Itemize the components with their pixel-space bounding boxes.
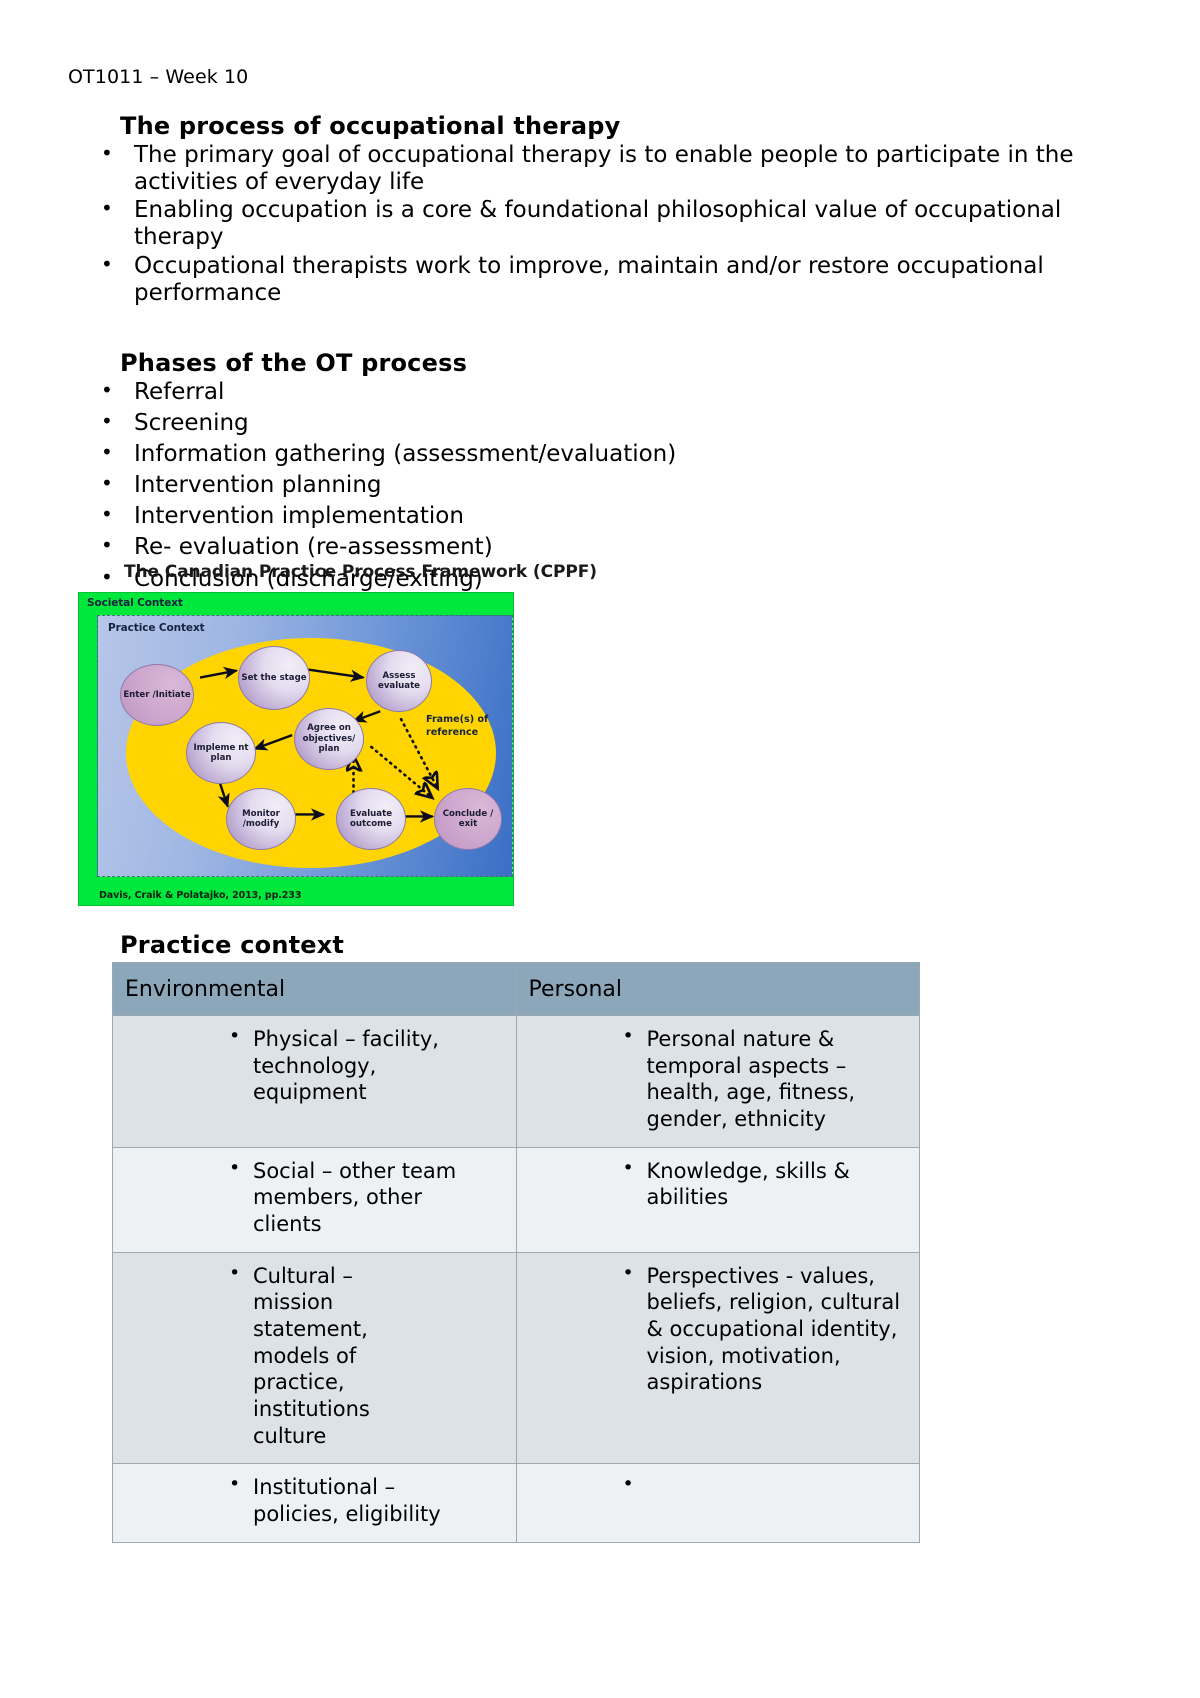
node-monitor: Monitor /modify	[226, 788, 296, 850]
practice-context-label: Practice Context	[108, 622, 205, 634]
list-item: Information gathering (assessment/evalua…	[68, 441, 1128, 468]
cell-personal: Knowledge, skills & abilities	[516, 1147, 920, 1252]
table-row: Institutional – policies, eligibility	[113, 1464, 920, 1542]
bullet-list-process: The primary goal of occupational therapy…	[68, 142, 1128, 307]
table-row: Physical – facility, technology, equipme…	[113, 1016, 920, 1148]
list-item: Intervention planning	[68, 472, 1128, 499]
document-page: OT1011 – Week 10 The process of occupati…	[0, 0, 1200, 1698]
cppf-diagram: Societal Context Practice Context	[78, 592, 514, 906]
node-evaluate: Evaluate outcome	[336, 788, 406, 850]
list-item: Knowledge, skills & abilities	[617, 1158, 908, 1211]
running-header: OT1011 – Week 10	[68, 66, 248, 88]
table-header-row: Environmental Personal	[113, 963, 920, 1016]
table-row: Social – other team members, other clien…	[113, 1147, 920, 1252]
list-item: Physical – facility, technology, equipme…	[223, 1026, 473, 1106]
cell-environmental: Institutional – policies, eligibility	[113, 1464, 517, 1542]
societal-context-label: Societal Context	[87, 597, 183, 609]
list-item: Personal nature & temporal aspects – hea…	[617, 1026, 908, 1133]
list-item: Intervention implementation	[68, 503, 1128, 530]
list-item: Enabling occupation is a core & foundati…	[68, 197, 1128, 251]
node-enter: Enter /Initiate	[120, 664, 194, 726]
body-content: The process of occupational therapy The …	[68, 112, 1128, 628]
list-item: Perspectives - values, beliefs, religion…	[617, 1263, 908, 1396]
cell-personal: Personal nature & temporal aspects – hea…	[516, 1016, 920, 1148]
node-conclude: Conclude / exit	[434, 788, 502, 850]
column-header-personal: Personal	[516, 963, 920, 1016]
cell-environmental: Physical – facility, technology, equipme…	[113, 1016, 517, 1148]
node-agree: Agree on objectives/ plan	[294, 708, 364, 770]
list-item: Cultural – mission statement, models of …	[223, 1263, 383, 1450]
cell-personal	[516, 1464, 920, 1542]
figure-caption: The Canadian Practice Process Framework …	[124, 562, 597, 582]
column-header-environmental: Environmental	[113, 963, 517, 1016]
node-assess: Assess evaluate	[366, 650, 432, 712]
list-item: Screening	[68, 410, 1128, 437]
node-set-stage: Set the stage	[238, 646, 310, 710]
bullet-list-phases: Referral Screening Information gathering…	[68, 379, 1128, 624]
list-item: Institutional – policies, eligibility	[223, 1474, 483, 1527]
list-item: Re- evaluation (re-assessment)	[68, 534, 1128, 561]
cell-environmental: Cultural – mission statement, models of …	[113, 1252, 517, 1464]
list-item: Occupational therapists work to improve,…	[68, 253, 1128, 307]
practice-context-table: Environmental Personal Physical – facili…	[112, 962, 920, 1543]
list-item: The primary goal of occupational therapy…	[68, 142, 1128, 196]
cell-personal: Perspectives - values, beliefs, religion…	[516, 1252, 920, 1464]
list-item: Referral	[68, 379, 1128, 406]
cell-environmental: Social – other team members, other clien…	[113, 1147, 517, 1252]
frames-of-reference-label: Frame(s) of reference	[426, 714, 504, 740]
section-title-process: The process of occupational therapy	[120, 112, 1128, 140]
list-item	[617, 1474, 908, 1500]
table-row: Cultural – mission statement, models of …	[113, 1252, 920, 1464]
list-item: Social – other team members, other clien…	[223, 1158, 473, 1238]
section-title-phases: Phases of the OT process	[120, 349, 1128, 377]
practice-context-box: Practice Context	[97, 615, 513, 877]
node-implement: Impleme nt plan	[186, 722, 256, 784]
table-title: Practice context	[120, 931, 344, 959]
figure-citation: Davis, Craik & Polatajko, 2013, pp.233	[99, 890, 301, 901]
